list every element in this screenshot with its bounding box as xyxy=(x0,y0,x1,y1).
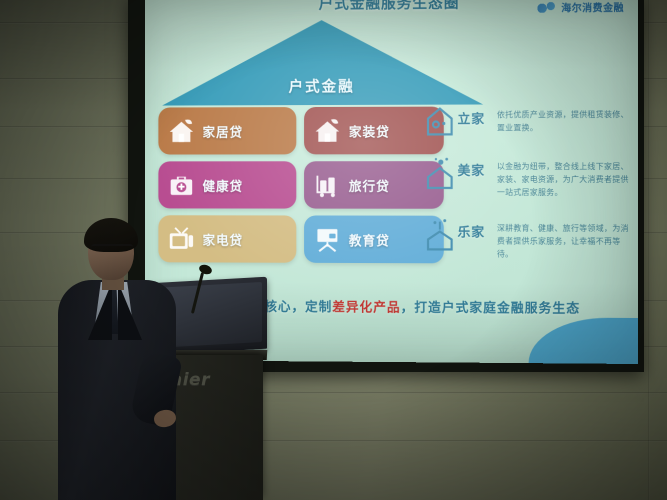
card-health-loan[interactable]: 健康贷 xyxy=(158,161,296,208)
card-home-loan[interactable]: 家居贷 xyxy=(158,107,296,154)
speaker-person xyxy=(58,218,178,500)
pillar-name: 美家 xyxy=(458,160,492,179)
pillar-name: 乐家 xyxy=(458,221,492,240)
card-travel-loan[interactable]: 旅行贷 xyxy=(304,161,444,209)
pillar-item-meijia: 美家 以金融为纽带，整合线上线下家居、家装、家电资源，为广大消费者提供一站式居家… xyxy=(424,156,634,200)
roof-label: 户式金融 xyxy=(162,75,483,97)
card-row: 健康贷 旅行贷 xyxy=(158,161,443,209)
medical-kit-icon xyxy=(167,171,196,198)
brand-logo: 海尔消费金融 xyxy=(536,0,624,15)
house-sparkle-icon xyxy=(424,156,455,190)
pillar-description: 依托优质产业资源，提供租赁装修、置业置换。 xyxy=(497,108,634,135)
card-decoration-loan[interactable]: 家装贷 xyxy=(304,107,444,155)
pillar-name: 立家 xyxy=(458,108,492,127)
product-card-grid: 家居贷 家装贷 xyxy=(158,107,443,271)
luggage-cart-icon xyxy=(313,171,342,199)
pillar-description: 深耕教育、健康、旅行等领域，为消费者提供乐家服务，让幸福不再等待。 xyxy=(497,221,634,261)
brand-mark-icon xyxy=(536,2,558,13)
card-label: 家电贷 xyxy=(203,230,244,249)
house-growth-icon xyxy=(424,217,455,251)
card-education-loan[interactable]: 教育贷 xyxy=(304,215,444,263)
caption-highlight: 差异化产品 xyxy=(332,300,400,315)
house-outline-icon xyxy=(424,105,455,139)
card-label: 教育贷 xyxy=(349,230,390,249)
card-label: 家居贷 xyxy=(203,122,244,141)
card-row: 家电贷 教育贷 xyxy=(158,215,443,263)
house-leaf-icon xyxy=(167,117,196,145)
easel-board-icon xyxy=(313,225,342,253)
pillar-list: 立家 依托优质产业资源，提供租赁装修、置业置换。 美家 以金融为纽带，整合线上线… xyxy=(424,104,634,279)
brand-logo-text: 海尔消费金融 xyxy=(561,0,624,15)
card-appliance-loan[interactable]: 家电贷 xyxy=(158,215,296,263)
card-label: 家装贷 xyxy=(349,121,390,140)
house-leaf-icon xyxy=(313,117,342,145)
glasses-icon xyxy=(91,244,133,256)
card-row: 家居贷 家装贷 xyxy=(158,107,443,155)
card-label: 旅行贷 xyxy=(349,176,390,195)
card-label: 健康贷 xyxy=(203,176,244,195)
presentation-photo: 户式金融服务生态圈 海尔消费金融 户式金融 家居贷 xyxy=(0,0,667,500)
pillar-item-lijia: 立家 依托优质产业资源，提供租赁装修、置业置换。 xyxy=(424,104,634,138)
pillar-description: 以金融为纽带，整合线上线下家居、家装、家电资源，为广大消费者提供一站式居家服务。 xyxy=(497,160,634,200)
pillar-item-lejia: 乐家 深耕教育、健康、旅行等领域，为消费者提供乐家服务，让幸福不再等待。 xyxy=(424,217,634,261)
